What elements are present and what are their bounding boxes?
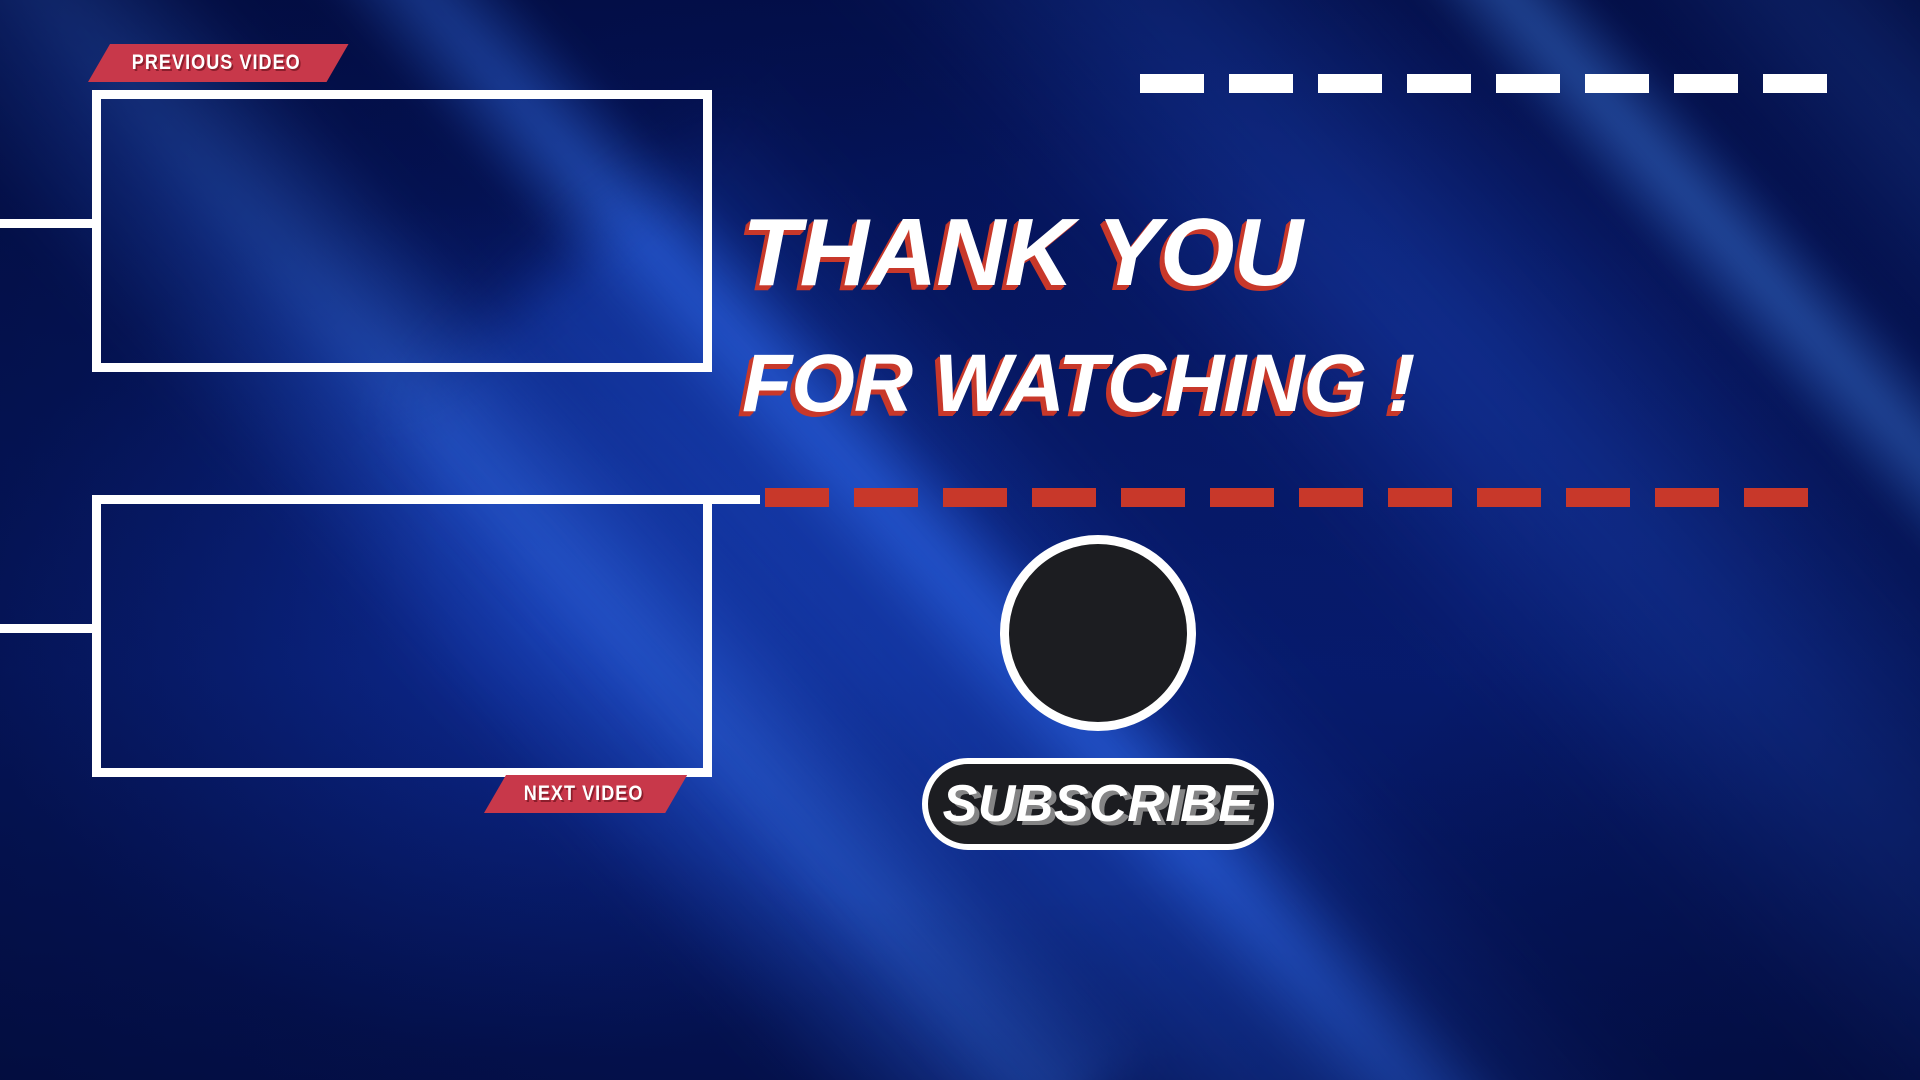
channel-avatar[interactable] [1000,535,1196,731]
dash-segment [1229,74,1293,93]
dash-segment [1318,74,1382,93]
next-video-label[interactable]: NEXT VIDEO [484,775,687,813]
headline-block: THANK YOU FOR WATCHING ! [742,205,1902,425]
next-video-label-text: NEXT VIDEO [524,782,644,806]
dash-segment [1407,74,1471,93]
subscribe-button-label: SUBSCRIBE [943,774,1254,834]
dash-segment [1674,74,1738,93]
previous-video-label-text: PREVIOUS VIDEO [132,51,301,75]
dash-segment [1032,488,1096,507]
previous-video-connector-line [0,219,96,228]
dash-segment [1566,488,1630,507]
ribbon-shape: NEXT VIDEO [484,775,687,813]
next-video-connector-line-right [705,495,760,504]
previous-video-label[interactable]: PREVIOUS VIDEO [88,44,349,82]
dash-segment [1744,488,1808,507]
red-dashed-divider [765,488,1833,507]
next-video-thumbnail-slot[interactable] [92,495,712,777]
subscribe-button[interactable]: SUBSCRIBE [922,758,1274,850]
dash-segment [854,488,918,507]
dash-segment [1655,488,1719,507]
white-dashed-divider [1140,74,1852,93]
dash-segment [1299,488,1363,507]
dash-segment [1763,74,1827,93]
headline-line-1: THANK YOU [742,205,1902,301]
previous-video-thumbnail-slot[interactable] [92,90,712,372]
next-video-connector-line [0,624,96,633]
ribbon-shape: PREVIOUS VIDEO [88,44,349,82]
dash-segment [1477,488,1541,507]
dash-segment [1496,74,1560,93]
dash-segment [1585,74,1649,93]
dash-segment [1210,488,1274,507]
dash-segment [1388,488,1452,507]
dash-segment [1121,488,1185,507]
headline-line-2: FOR WATCHING ! [742,343,1902,425]
dash-segment [765,488,829,507]
dash-segment [943,488,1007,507]
end-screen-canvas: PREVIOUS VIDEO NEXT VIDEO THANK YOU FOR … [0,0,1920,1080]
dash-segment [1140,74,1204,93]
